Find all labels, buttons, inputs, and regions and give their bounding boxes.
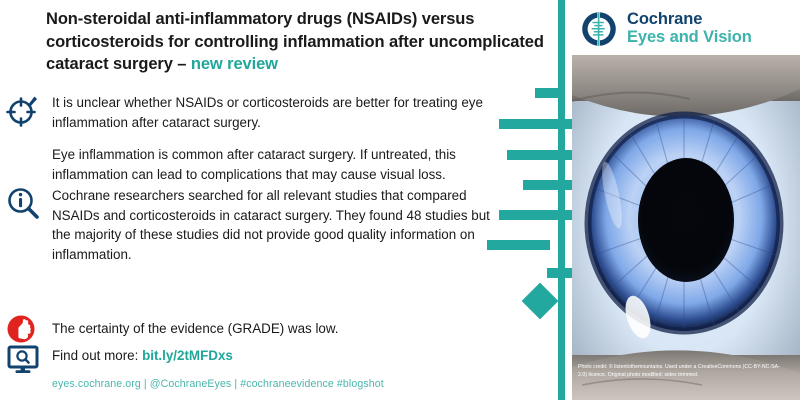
cochrane-logo-icon [580, 10, 618, 48]
logo-wordmark: Cochrane Eyes and Vision [627, 11, 752, 47]
logo-line-cochrane: Cochrane [627, 11, 752, 29]
monitor-search-icon [6, 342, 40, 376]
background-text: Eye inflammation is common after catarac… [52, 145, 512, 184]
page-title: Non-steroidal anti-inflammatory drugs (N… [46, 8, 556, 76]
search-methods-row: Cochrane researchers searched for all re… [6, 186, 516, 265]
key-finding-text: It is unclear whether NSAIDs or corticos… [52, 93, 502, 132]
certainty-text: The certainty of the evidence (GRADE) wa… [52, 314, 339, 339]
target-crosshair-icon [6, 93, 40, 127]
find-out-more-label: Find out more: [52, 348, 142, 363]
search-methods-text: Cochrane researchers searched for all re… [52, 186, 507, 265]
logo-line-eyes-and-vision: Eyes and Vision [627, 29, 752, 47]
find-out-more-link[interactable]: bit.ly/2tMFDxs [142, 348, 233, 363]
find-out-more-text: Find out more: bit.ly/2tMFDxs [52, 342, 233, 366]
magnifier-info-icon [6, 186, 40, 220]
close-up-blue-eye-photo [572, 55, 800, 400]
key-finding-row: It is unclear whether NSAIDs or corticos… [6, 93, 511, 132]
social-footer: eyes.cochrane.org | @CochraneEyes | #coc… [52, 378, 384, 390]
cochrane-eyes-and-vision-logo: Cochrane Eyes and Vision [580, 10, 752, 48]
new-review-badge: new review [191, 55, 278, 73]
content-column: Non-steroidal anti-inflammatory drugs (N… [0, 0, 560, 400]
page-title-main: Non-steroidal anti-inflammatory drugs (N… [46, 10, 544, 73]
background-row: Eye inflammation is common after catarac… [52, 145, 512, 184]
cochrane-blogshot-infographic: Non-steroidal anti-inflammatory drugs (N… [0, 0, 800, 400]
find-out-more-row[interactable]: Find out more: bit.ly/2tMFDxs [6, 342, 486, 376]
photo-credit-text: Photo credit: © listentothemountains. Us… [578, 363, 783, 379]
